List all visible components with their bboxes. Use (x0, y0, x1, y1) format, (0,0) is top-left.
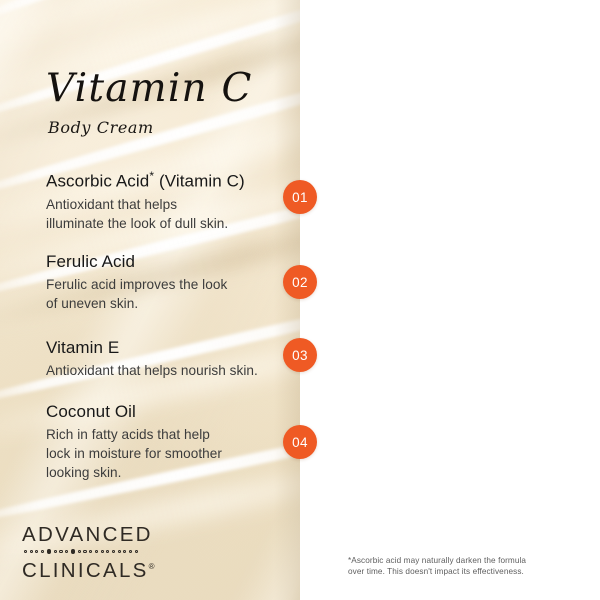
footnote-disclaimer: *Ascorbic acid may naturally darken the … (348, 555, 588, 578)
logo-dot (101, 550, 104, 553)
ingredient-badge-4: 04 (283, 425, 317, 459)
ingredient-badge-1: 01 (283, 180, 317, 214)
logo-dot-large (71, 549, 75, 553)
ingredient-name-1-suffix: (Vitamin C) (154, 172, 245, 191)
brand-logo-line-1: ADVANCED (22, 524, 155, 546)
ingredient-item-3: Vitamin E Antioxidant that helps nourish… (46, 337, 296, 380)
ingredient-name-3: Vitamin E (46, 337, 296, 358)
ingredient-item-2: Ferulic Acid Ferulic acid improves the l… (46, 251, 296, 313)
logo-dot (30, 550, 33, 553)
product-ingredient-infographic: ADVANCED CLINICALS® Vitamin C B (0, 0, 600, 600)
ingredient-name-1-text: Ascorbic Acid (46, 172, 149, 191)
logo-dot (112, 550, 115, 553)
logo-dot (24, 550, 27, 553)
ingredient-description-2: Ferulic acid improves the look of uneven… (46, 275, 296, 313)
logo-dot (54, 550, 57, 553)
ingredient-item-4: Coconut Oil Rich in fatty acids that hel… (46, 401, 296, 482)
ingredient-name-4: Coconut Oil (46, 401, 296, 422)
brand-logo-line-2-text: CLINICALS (22, 559, 149, 582)
ingredient-description-1: Antioxidant that helps illuminate the lo… (46, 195, 296, 233)
logo-dot (123, 550, 126, 553)
logo-dot (129, 550, 132, 553)
logo-dot (83, 550, 86, 553)
product-subtitle: Body Cream (48, 118, 154, 137)
info-panel (300, 0, 600, 600)
registered-trademark-symbol: ® (149, 562, 155, 571)
logo-dot (118, 550, 121, 553)
ingredient-item-1: Ascorbic Acid* (Vitamin C) Antioxidant t… (46, 166, 296, 233)
logo-dot (59, 550, 62, 553)
logo-dot (95, 550, 98, 553)
brand-logo-dot-rule (24, 547, 155, 556)
ingredient-description-4: Rich in fatty acids that help lock in mo… (46, 425, 296, 482)
ingredient-badge-2: 02 (283, 265, 317, 299)
logo-dot (89, 550, 92, 553)
ingredient-name-2: Ferulic Acid (46, 251, 296, 272)
logo-dot (35, 550, 38, 553)
ingredient-name-1: Ascorbic Acid* (Vitamin C) (46, 166, 296, 192)
ingredient-badge-3: 03 (283, 338, 317, 372)
brand-logo: ADVANCED CLINICALS® (22, 524, 155, 582)
logo-dot (135, 550, 138, 553)
ingredient-description-3: Antioxidant that helps nourish skin. (46, 361, 296, 380)
logo-dot (106, 550, 109, 553)
product-title: Vitamin C (46, 68, 253, 110)
brand-logo-line-2: CLINICALS® (22, 556, 155, 582)
logo-dot (41, 550, 44, 553)
logo-dot (65, 550, 68, 553)
logo-dot (78, 550, 81, 553)
logo-dot-large (47, 549, 51, 553)
